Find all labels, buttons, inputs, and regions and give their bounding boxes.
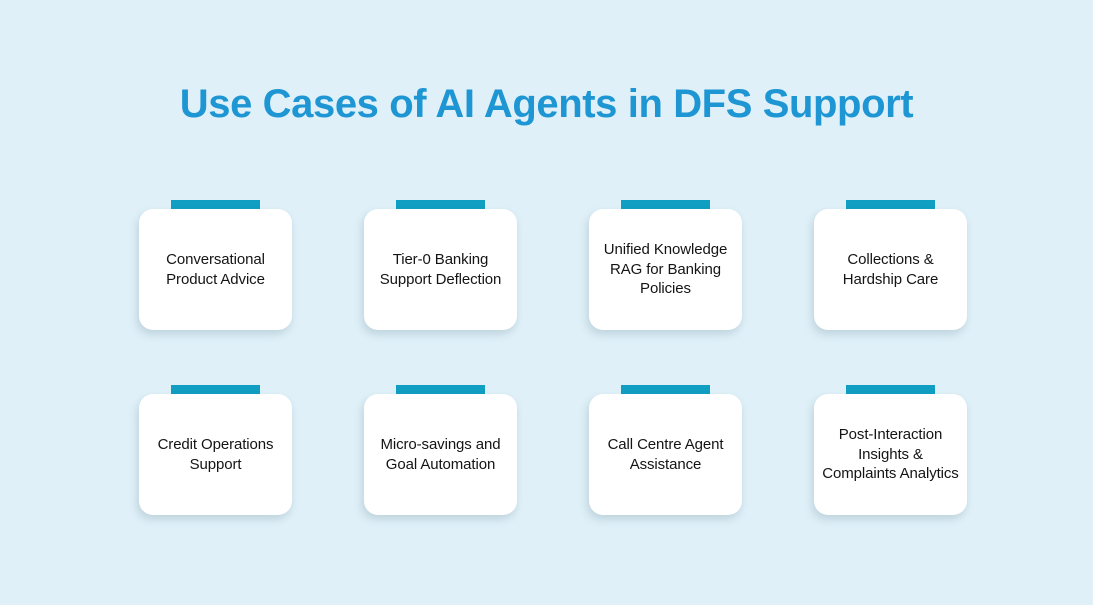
card-body[interactable]: Credit Operations Support <box>139 394 292 515</box>
card-body[interactable]: Call Centre Agent Assistance <box>589 394 742 515</box>
use-case-card-8[interactable]: Post-Interaction Insights & Complaints A… <box>814 385 967 515</box>
use-case-card-2[interactable]: Tier-0 Banking Support Deflection <box>364 200 517 330</box>
infographic-page: Use Cases of AI Agents in DFS Support Co… <box>0 0 1093 605</box>
card-label: Credit Operations Support <box>147 435 284 475</box>
card-row-2: Credit Operations Support Micro-savings … <box>139 385 971 515</box>
card-body[interactable]: Post-Interaction Insights & Complaints A… <box>814 394 967 515</box>
card-body[interactable]: Unified Knowledge RAG for Banking Polici… <box>589 209 742 330</box>
card-body[interactable]: Collections & Hardship Care <box>814 209 967 330</box>
use-case-card-4[interactable]: Collections & Hardship Care <box>814 200 967 330</box>
use-case-card-5[interactable]: Credit Operations Support <box>139 385 292 515</box>
page-title: Use Cases of AI Agents in DFS Support <box>0 84 1093 124</box>
card-body[interactable]: Tier-0 Banking Support Deflection <box>364 209 517 330</box>
card-label: Tier-0 Banking Support Deflection <box>372 250 509 290</box>
use-case-card-6[interactable]: Micro-savings and Goal Automation <box>364 385 517 515</box>
use-case-card-grid: Conversational Product Advice Tier-0 Ban… <box>139 200 971 515</box>
card-label: Conversational Product Advice <box>147 250 284 290</box>
card-label: Post-Interaction Insights & Complaints A… <box>822 425 959 484</box>
card-label: Collections & Hardship Care <box>822 250 959 290</box>
card-label: Call Centre Agent Assistance <box>597 435 734 475</box>
card-body[interactable]: Micro-savings and Goal Automation <box>364 394 517 515</box>
card-label: Unified Knowledge RAG for Banking Polici… <box>597 240 734 299</box>
use-case-card-3[interactable]: Unified Knowledge RAG for Banking Polici… <box>589 200 742 330</box>
card-body[interactable]: Conversational Product Advice <box>139 209 292 330</box>
use-case-card-1[interactable]: Conversational Product Advice <box>139 200 292 330</box>
card-label: Micro-savings and Goal Automation <box>372 435 509 475</box>
use-case-card-7[interactable]: Call Centre Agent Assistance <box>589 385 742 515</box>
card-row-1: Conversational Product Advice Tier-0 Ban… <box>139 200 971 330</box>
